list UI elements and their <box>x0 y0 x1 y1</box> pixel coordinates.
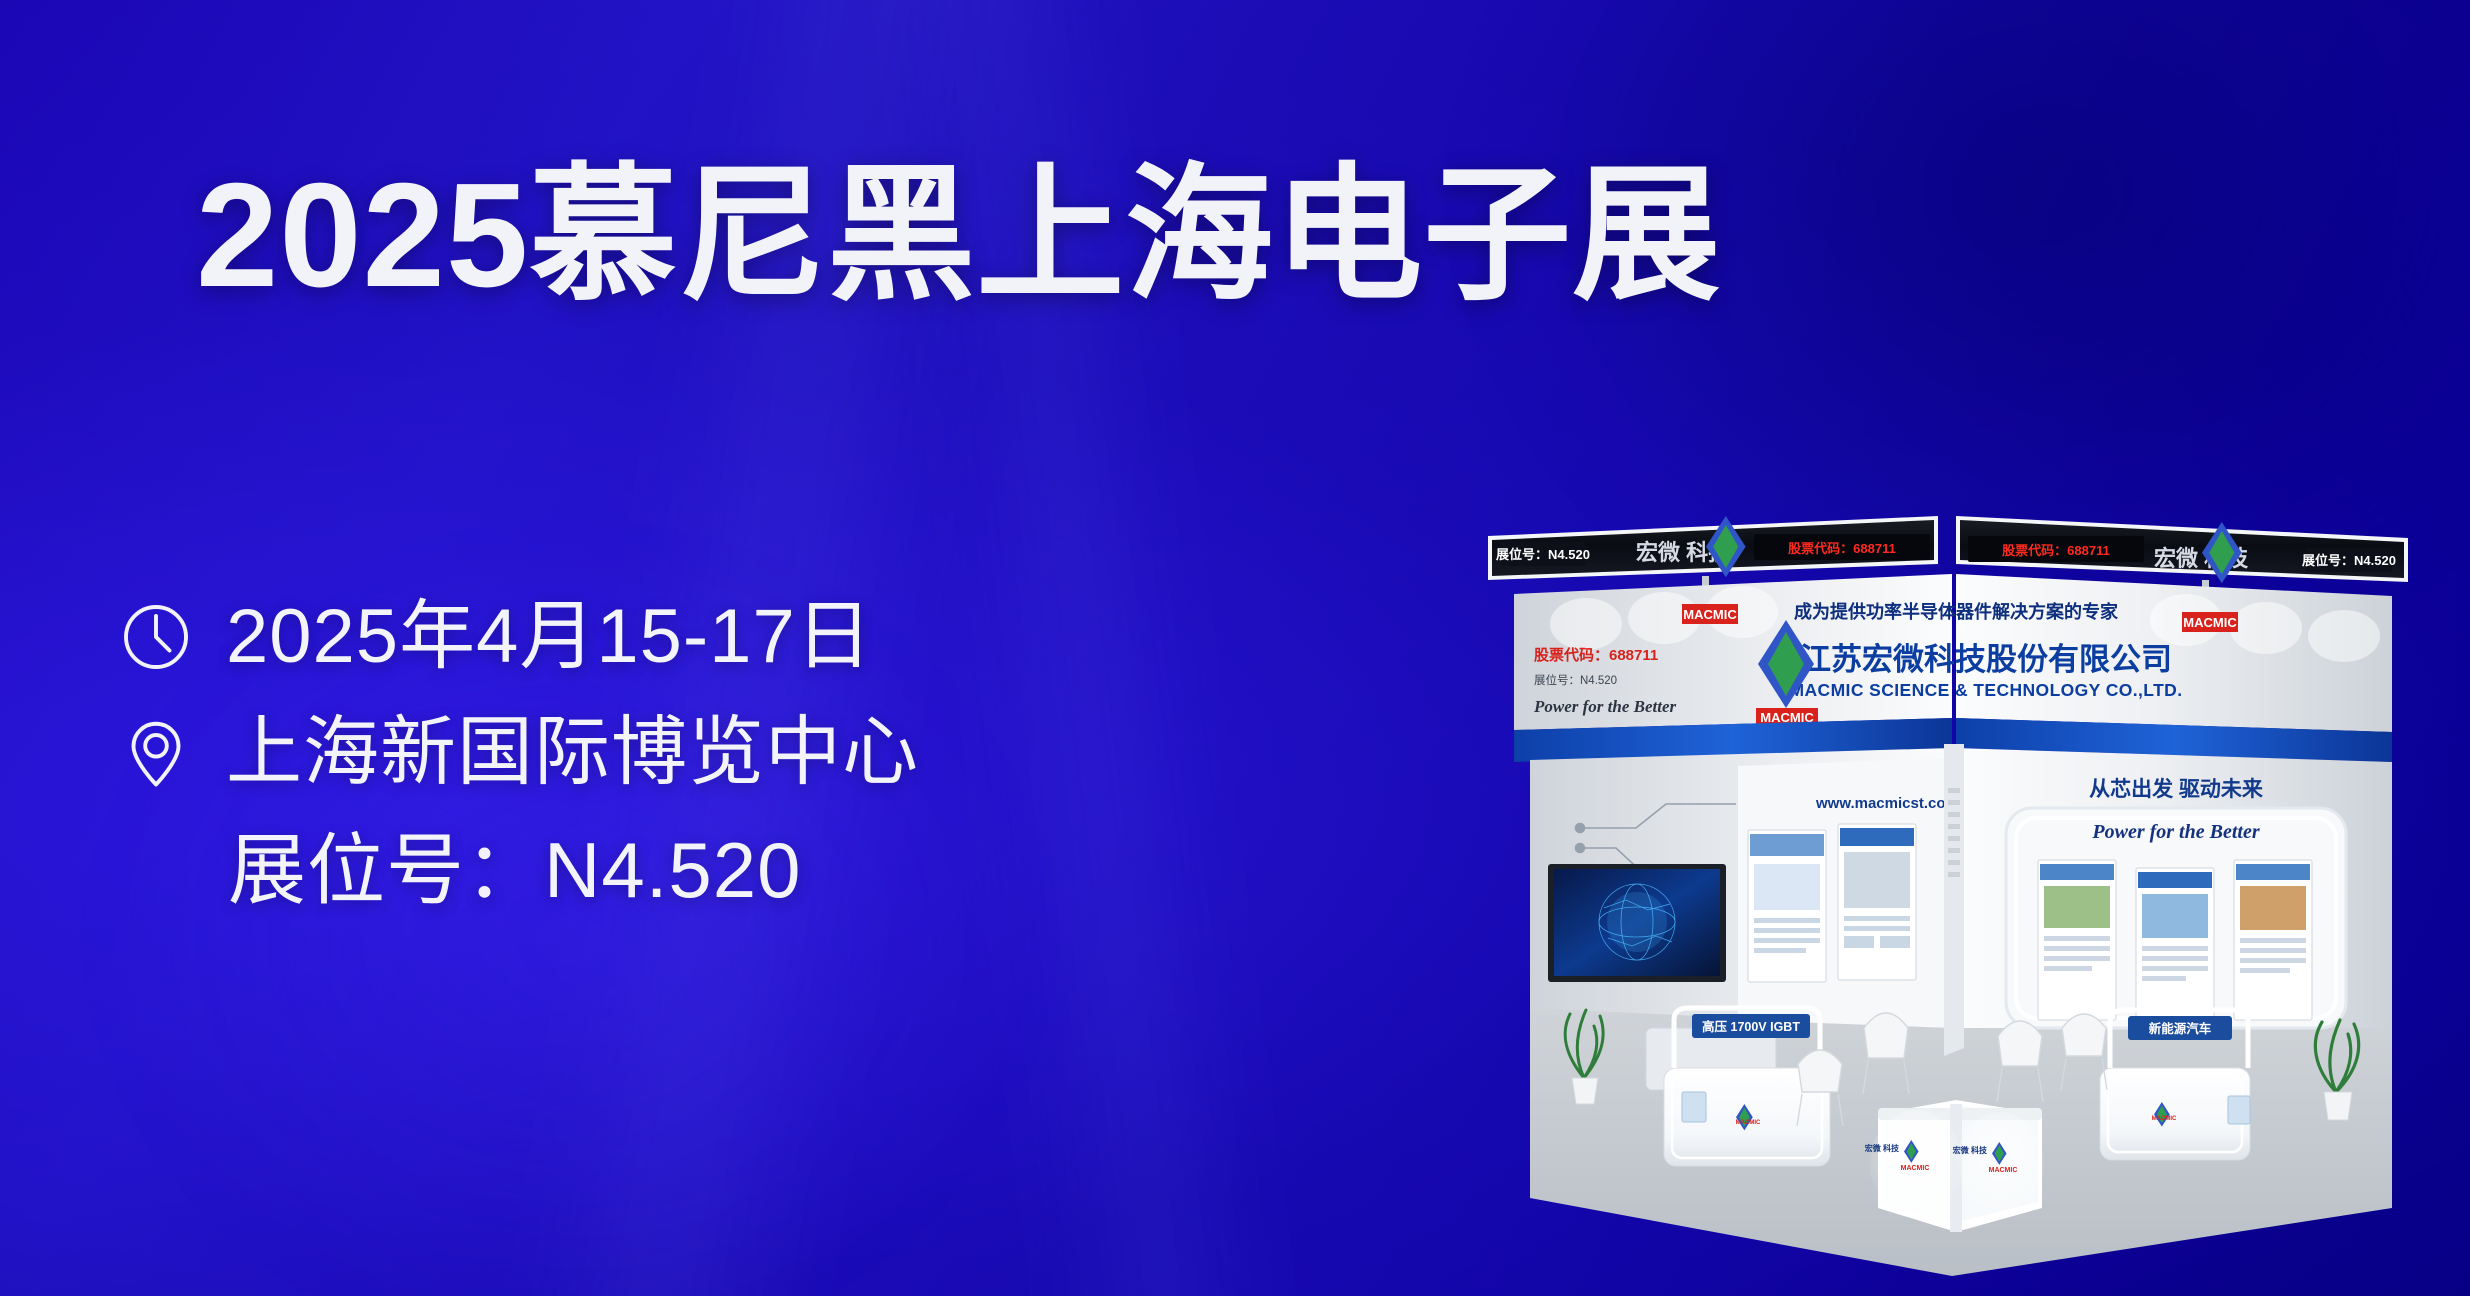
overhead-ticker-left: 股票代码：688711 <box>1788 541 1896 556</box>
macmic-wordmark: MACMIC <box>1736 1120 1761 1126</box>
macmic-wordmark: MACMIC <box>2183 615 2237 630</box>
booth-number-wall: 展位号：N4.520 <box>1534 673 1617 687</box>
desk-logo-en: MACMIC <box>1901 1165 1930 1172</box>
booth-render-image: 展位号：N4.520 宏微 科技 股票代码：688711 股票代码：688711… <box>1486 508 2416 1276</box>
poster-panel <box>2136 868 2214 1024</box>
booth-right-wall: 从芯出发 驱动未来 Power for the Better <box>1956 748 2392 1028</box>
poster-image <box>1754 864 1820 910</box>
display-case-label: 新能源汽车 <box>2149 1021 2212 1036</box>
page-title: 2025慕尼黑上海电子展 <box>196 150 1496 322</box>
poster-image <box>1844 852 1910 908</box>
poster-canvas: 2025慕尼黑上海电子展 2025年4月15-17日 上海新国际博览中心 展位号… <box>0 0 2470 1296</box>
event-info-block: 2025年4月15-17日 上海新国际博览中心 展位号：N4.520 <box>120 596 1400 912</box>
event-booth-text: 展位号：N4.520 <box>228 828 802 912</box>
macmic-wordmark: MACMIC <box>2152 1116 2177 1122</box>
display-case-label: 高压 1700V IGBT <box>1702 1019 1800 1034</box>
reception-desk: 宏微 科技 MACMIC 宏微 科技 MACMIC <box>1865 1100 2044 1232</box>
company-name-en: MACMIC SCIENCE & TECHNOLOGY CO.,LTD. <box>1790 680 2183 700</box>
desk-logo-cn: 宏微 科技 <box>1865 1143 1900 1153</box>
booth-header-wall: MACMIC MACMIC 成为提供功率半导体器件解决方案的专家 江苏宏微科技股… <box>1514 574 2392 732</box>
event-date-text: 2025年4月15-17日 <box>226 596 873 678</box>
poster-panel <box>2234 860 2312 1020</box>
poster-panel <box>2038 860 2116 1020</box>
location-pin-icon <box>120 717 192 789</box>
clock-icon <box>120 601 192 673</box>
right-wall-slogan-cn: 从芯出发 驱动未来 <box>2089 777 2264 801</box>
overhead-booth-no-left: 展位号：N4.520 <box>1496 547 1590 562</box>
booth-left-wall: www.macmicst.com <box>1530 748 1959 1028</box>
event-venue-row: 上海新国际博览中心 <box>120 712 1400 794</box>
poster-header <box>1840 828 1914 846</box>
macmic-wordmark: MACMIC <box>1683 607 1737 622</box>
booth-slogan-en: Power for the Better <box>1533 697 1677 716</box>
company-name-cn: 江苏宏微科技股份有限公司 <box>1800 642 2172 677</box>
event-booth-row: 展位号：N4.520 <box>120 828 1400 912</box>
event-venue-text: 上海新国际博览中心 <box>226 712 919 794</box>
booth-tagline: 成为提供功率半导体器件解决方案的专家 <box>1794 601 2119 622</box>
overhead-ticker-right: 股票代码：688711 <box>2002 543 2110 558</box>
event-date-row: 2025年4月15-17日 <box>120 596 1400 678</box>
right-wall-slogan-en: Power for the Better <box>2091 821 2259 843</box>
poster-header <box>1750 834 1824 856</box>
desk-logo-cn: 宏微 科技 <box>1953 1145 1988 1155</box>
desk-logo-en: MACMIC <box>1989 1167 2018 1174</box>
booth-stock-code: 股票代码：688711 <box>1534 646 1658 664</box>
company-website: www.macmicst.com <box>1815 795 1959 812</box>
overhead-booth-no-right: 展位号：N4.520 <box>2302 553 2396 568</box>
